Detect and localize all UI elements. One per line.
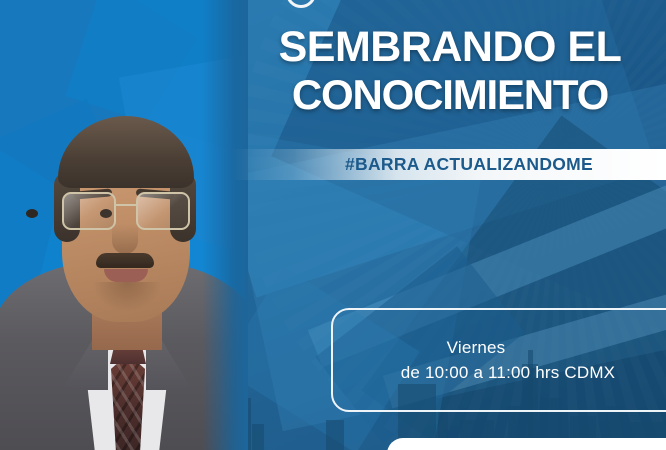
eyeglass-lens-right [136,192,190,230]
schedule-hours: de 10:00 a 11:00 hrs CDMX [401,360,615,385]
program-title: SEMBRANDO EL CONOCIMIENTO [240,24,660,118]
chin-shadow [92,282,162,312]
nose [112,224,138,254]
schedule-box: Viernes de 10:00 a 11:00 hrs CDMX [331,308,666,412]
host-portrait-photo [0,0,248,450]
title-line-2: CONOCIMIENTO [240,71,660,118]
hashtag-band: #BARRA ACTUALIZANDOME [232,149,666,180]
hair [58,116,194,188]
bottom-white-panel [387,438,666,450]
circle-logo-icon [286,0,316,8]
skyline-building [252,424,264,450]
mustache [96,253,154,268]
eye-left [26,209,38,218]
poster-canvas: SEMBRANDO EL CONOCIMIENTO #BARRA ACTUALI… [0,0,666,450]
hashtag-text: #BARRA ACTUALIZANDOME [305,154,593,175]
program-logo [286,0,586,8]
eyeglass-bridge [116,204,136,206]
schedule-day: Viernes [447,335,506,360]
eyeglass-lens-left [62,192,116,230]
skyline-building [326,420,344,450]
mouth [104,269,148,282]
title-line-1: SEMBRANDO EL [240,24,660,71]
necktie [111,354,145,450]
